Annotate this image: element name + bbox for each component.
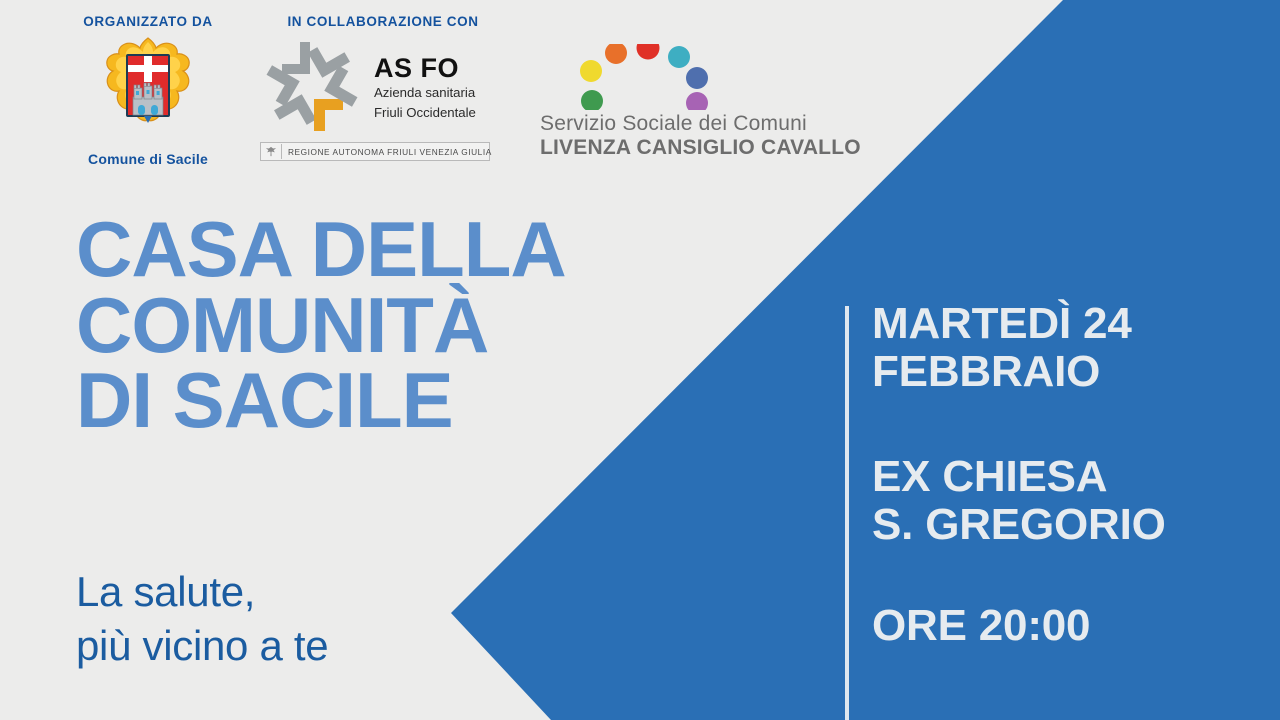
sacile-coat-of-arms-icon xyxy=(100,35,196,145)
event-date-line-1: MARTEDÌ 24 xyxy=(872,300,1252,348)
event-date-line-2: FEBBRAIO xyxy=(872,348,1252,396)
friuli-eagle-icon xyxy=(261,144,282,159)
title-line-2: COMUNITÀ xyxy=(76,288,566,364)
event-venue-line-1: EX CHIESA xyxy=(872,453,1252,501)
asfo-subtitle-line2: Friuli Occidentale xyxy=(374,105,476,121)
spacer-date-venue xyxy=(872,397,1252,453)
organizer-kicker: ORGANIZZATO DA xyxy=(60,14,236,29)
organizer-logo-block: ORGANIZZATO DA xyxy=(60,14,236,167)
collaboration-logo-block: IN COLLABORAZIONE CON xyxy=(258,14,508,161)
regione-label: REGIONE AUTONOMA FRIULI VENEZIA GIULIA xyxy=(282,147,492,157)
asfo-subtitle-line1: Azienda sanitaria xyxy=(374,85,476,101)
page-title: CASA DELLA COMUNITÀ DI SACILE xyxy=(76,212,566,439)
event-time: ORE 20:00 xyxy=(872,602,1252,650)
event-details-panel: MARTEDÌ 24 FEBBRAIO EX CHIESA S. GREGORI… xyxy=(872,300,1252,650)
event-date: MARTEDÌ 24 FEBBRAIO xyxy=(872,300,1252,397)
regione-bar: REGIONE AUTONOMA FRIULI VENEZIA GIULIA xyxy=(260,142,490,161)
event-poster: ORGANIZZATO DA xyxy=(0,0,1280,720)
title-line-3: DI SACILE xyxy=(76,363,566,439)
logo-header: ORGANIZZATO DA xyxy=(0,0,900,190)
social-service-logo-block: Servizio Sociale dei Comuni LIVENZA CANS… xyxy=(540,44,870,160)
colored-dots-arc-icon xyxy=(578,44,728,110)
event-time-line-1: ORE 20:00 xyxy=(872,602,1252,650)
tagline: La salute, più vicino a te xyxy=(76,565,328,673)
organizer-caption: Comune di Sacile xyxy=(60,151,236,167)
panel-vertical-rule xyxy=(845,306,849,720)
asfo-arrows-icon xyxy=(258,37,366,135)
tagline-line-2: più vicino a te xyxy=(76,619,328,673)
title-line-1: CASA DELLA xyxy=(76,212,566,288)
social-service-line1: Servizio Sociale dei Comuni xyxy=(540,112,870,136)
spacer-venue-time xyxy=(872,550,1252,602)
tagline-line-1: La salute, xyxy=(76,565,328,619)
event-venue-line-2: S. GREGORIO xyxy=(872,501,1252,549)
asfo-title: AS FO xyxy=(374,55,476,82)
event-venue: EX CHIESA S. GREGORIO xyxy=(872,453,1252,550)
collaboration-kicker: IN COLLABORAZIONE CON xyxy=(258,14,508,29)
social-service-line2: LIVENZA CANSIGLIO CAVALLO xyxy=(540,136,870,160)
